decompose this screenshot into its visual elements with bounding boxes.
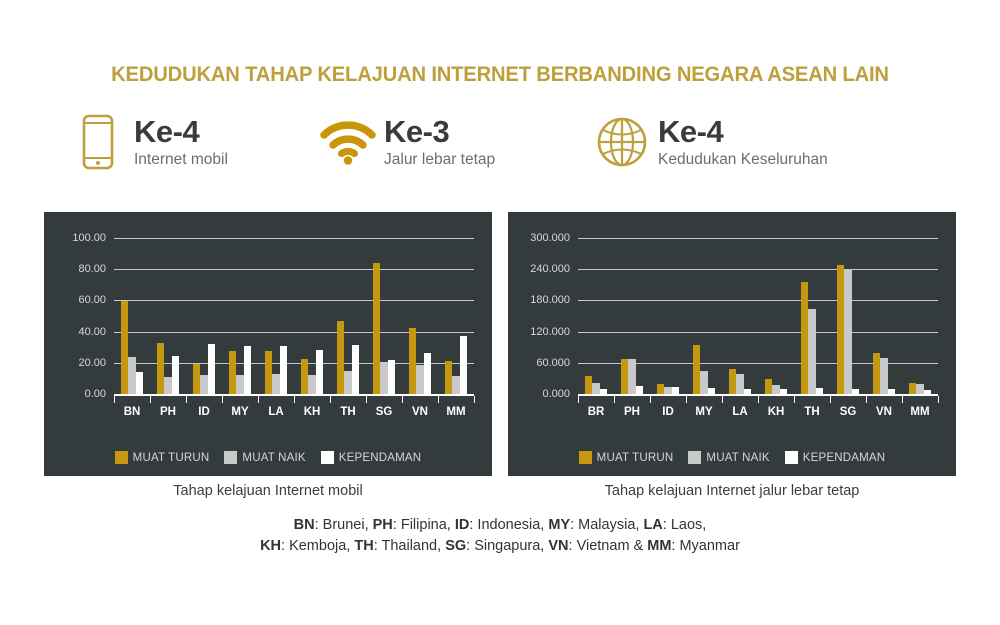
bar-vn-latency [888,389,895,394]
country-code: MM [647,538,671,554]
country-code: SG [445,538,466,554]
bar-my-latency [244,346,251,394]
x-axis-tick [830,396,831,403]
bar-mm-upload [916,384,923,394]
legend-label: KEPENDAMAN [803,452,886,464]
country-name: : Laos, [663,517,707,533]
bar-my-upload [700,371,707,394]
legend-swatch-dl [579,451,592,464]
chart-caption-mobile: Tahap kelajuan Internet mobil [44,483,492,499]
y-axis-tick-label: 100.00 [72,232,106,244]
x-axis-tick [294,396,295,403]
legend-label: MUAT TURUN [597,452,674,464]
bar-id-latency [208,344,215,394]
bar-my-upload [236,375,243,394]
country-code: KH [260,538,281,554]
x-axis-label-my: MY [231,406,248,418]
legend-item-dl: MUAT TURUN [579,451,674,464]
chart-caption-fixed-broadband: Tahap kelajuan Internet jalur lebar teta… [508,483,956,499]
bar-la-upload [272,374,279,394]
country-name: : Thailand, [374,538,445,554]
country-code: PH [373,517,393,533]
bar-kh-download [301,359,308,394]
bar-th-download [337,321,344,394]
bar-sg-download [373,263,380,394]
chart-legend-mobile: MUAT TURUNMUAT NAIKKEPENDAMAN [44,451,492,464]
gridline [114,300,474,301]
globe-icon [592,110,652,174]
y-axis-tick-label: 0.00 [85,388,106,400]
bar-ph-latency [172,356,179,394]
bar-th-latency [352,345,359,394]
country-name: : Filipina, [393,517,455,533]
bar-kh-download [765,379,772,394]
bar-sg-latency [852,389,859,394]
mobile-phone-icon [68,110,128,174]
country-name: : Myanmar [671,538,740,554]
country-code: MY [548,517,570,533]
x-axis-label-la: LA [268,406,283,418]
legend-item-lat: KEPENDAMAN [785,451,886,464]
gridline [114,363,474,364]
chart-plot-mobile: 0.0020.0040.0060.0080.00100.00BNPHIDMYLA… [44,212,492,476]
bar-id-upload [664,387,671,394]
bar-sg-latency [388,360,395,394]
country-code: ID [455,517,470,533]
legend-swatch-ul [224,451,237,464]
x-axis-tick [330,396,331,403]
x-axis-label-vn: VN [876,406,892,418]
country-code: TH [354,538,373,554]
x-axis-label-th: TH [340,406,355,418]
legend-label: MUAT NAIK [242,452,305,464]
x-axis-tick [794,396,795,403]
country-code-footnote: BN: Brunei, PH: Filipina, ID: Indonesia,… [0,515,1000,557]
y-axis-tick-label: 20.00 [78,357,106,369]
bar-my-download [693,345,700,394]
bar-kh-latency [780,389,787,394]
bar-vn-download [873,353,880,394]
bar-kh-latency [316,350,323,394]
chart-plot-fixed-broadband: 0.00060.000120.000180.000240.000300.000B… [508,212,956,476]
x-axis-tick [258,396,259,403]
x-axis-tick [222,396,223,403]
x-axis-tick [366,396,367,403]
x-axis-label-sg: SG [376,406,393,418]
country-name: : Indonesia, [469,517,548,533]
legend-item-lat: KEPENDAMAN [321,451,422,464]
bar-sg-download [837,265,844,394]
legend-swatch-dl [115,451,128,464]
x-axis-label-my: MY [695,406,712,418]
country-name: : Kemboja, [281,538,354,554]
bar-id-latency [672,387,679,394]
gridline [114,238,474,239]
y-axis-tick-label: 120.000 [530,326,570,338]
country-name: : Vietnam & [569,538,648,554]
x-axis-tick [474,396,475,403]
bar-vn-latency [424,353,431,394]
gridline [114,332,474,333]
x-axis-tick [150,396,151,403]
y-axis-tick-label: 300.000 [530,232,570,244]
x-axis-tick [438,396,439,403]
bar-my-download [229,351,236,394]
y-axis-tick-label: 240.000 [530,263,570,275]
legend-swatch-lat [785,451,798,464]
bar-la-download [729,369,736,394]
x-axis-tick [686,396,687,403]
bar-my-latency [708,388,715,394]
bar-bn-upload [128,357,135,394]
bar-id-upload [200,375,207,395]
infographic-root: KEDUDUKAN TAHAP KELAJUAN INTERNET BERBAN… [0,0,1000,625]
y-axis-tick-label: 80.00 [78,263,106,275]
bar-mm-download [445,361,452,394]
stat-label: Kedudukan Keseluruhan [658,151,828,168]
y-axis-tick-label: 0.000 [542,388,570,400]
bar-vn-download [409,328,416,394]
x-axis-tick [186,396,187,403]
x-axis-label-bn: BN [124,406,141,418]
bar-mm-download [909,383,916,394]
bar-ph-download [157,343,164,394]
legend-label: MUAT NAIK [706,452,769,464]
bar-mm-latency [460,336,467,395]
chart-legend-fixed-broadband: MUAT TURUNMUAT NAIKKEPENDAMAN [508,451,956,464]
bar-bn-latency [136,372,143,394]
country-name: : Malaysia, [570,517,643,533]
x-axis-label-kh: KH [768,406,785,418]
x-axis-label-ph: PH [624,406,640,418]
x-axis-tick [650,396,651,403]
gridline [578,332,938,333]
x-axis-label-br: BR [588,406,605,418]
bar-th-upload [808,309,815,394]
bar-th-download [801,282,808,394]
bar-mm-upload [452,376,459,394]
y-axis-tick-label: 40.00 [78,326,106,338]
bar-la-download [265,351,272,394]
legend-swatch-lat [321,451,334,464]
bar-la-upload [736,374,743,394]
legend-label: KEPENDAMAN [339,452,422,464]
stat-rank: Ke-4 [134,116,228,147]
stat-block-overall: Ke-4 Kedudukan Keseluruhan [592,110,828,174]
legend-swatch-ul [688,451,701,464]
bar-sg-upload [844,269,851,394]
bar-kh-upload [772,385,779,394]
stat-text-fixed-broadband: Ke-3 Jalur lebar tetap [384,116,495,168]
x-axis-label-vn: VN [412,406,428,418]
bar-kh-upload [308,375,315,395]
footnote-line-1: BN: Brunei, PH: Filipina, ID: Indonesia,… [0,515,1000,536]
bar-sg-upload [380,362,387,394]
country-code: LA [643,517,662,533]
legend-label: MUAT TURUN [133,452,210,464]
x-axis-tick [938,396,939,403]
x-axis-tick [758,396,759,403]
bar-br-upload [592,383,599,394]
wifi-icon [318,110,378,174]
bar-id-download [657,384,664,394]
bar-bn-download [121,301,128,394]
country-name: : Brunei, [315,517,373,533]
bar-la-latency [744,389,751,394]
x-axis-tick [722,396,723,403]
gridline [114,269,474,270]
legend-item-ul: MUAT NAIK [688,451,769,464]
gridline [578,300,938,301]
x-axis-label-th: TH [804,406,819,418]
bar-ph-download [621,359,628,394]
x-axis-label-id: ID [662,406,674,418]
bar-ph-latency [636,386,643,394]
stat-label: Jalur lebar tetap [384,151,495,168]
legend-item-dl: MUAT TURUN [115,451,210,464]
x-axis-label-mm: MM [446,406,465,418]
stat-block-fixed-broadband: Ke-3 Jalur lebar tetap [318,110,495,174]
x-axis-label-sg: SG [840,406,857,418]
stat-rank: Ke-3 [384,116,495,147]
bar-id-download [193,364,200,394]
y-axis-tick-label: 180.000 [530,294,570,306]
x-axis-label-ph: PH [160,406,176,418]
country-code: VN [548,538,568,554]
stat-label: Internet mobil [134,151,228,168]
x-axis-label-kh: KH [304,406,321,418]
bar-vn-upload [416,365,423,394]
stat-rank: Ke-4 [658,116,828,147]
x-axis-label-id: ID [198,406,210,418]
bar-mm-latency [924,390,931,394]
x-axis-label-mm: MM [910,406,929,418]
x-axis-tick [614,396,615,403]
x-axis-tick [578,396,579,403]
stat-text-overall: Ke-4 Kedudukan Keseluruhan [658,116,828,168]
x-axis-tick [114,396,115,403]
y-axis-tick-label: 60.000 [536,357,570,369]
gridline [578,238,938,239]
chart-panel-fixed-broadband: 0.00060.000120.000180.000240.000300.000B… [508,212,956,476]
x-axis-tick [866,396,867,403]
country-code: BN [294,517,315,533]
bar-la-latency [280,346,287,394]
stat-block-mobile: Ke-4 Internet mobil [68,110,228,174]
x-axis-label-la: LA [732,406,747,418]
bar-ph-upload [164,377,171,394]
footnote-line-2: KH: Kemboja, TH: Thailand, SG: Singapura… [0,536,1000,557]
bar-br-latency [600,389,607,394]
bar-ph-upload [628,359,635,394]
gridline [578,269,938,270]
legend-item-ul: MUAT NAIK [224,451,305,464]
bar-vn-upload [880,358,887,394]
country-name: : Singapura, [466,538,548,554]
chart-panel-mobile: 0.0020.0040.0060.0080.00100.00BNPHIDMYLA… [44,212,492,476]
y-axis-tick-label: 60.00 [78,294,106,306]
page-title: KEDUDUKAN TAHAP KELAJUAN INTERNET BERBAN… [30,62,970,87]
stat-text-mobile: Ke-4 Internet mobil [134,116,228,168]
bar-th-upload [344,371,351,394]
x-axis-tick [402,396,403,403]
stat-blocks: Ke-4 Internet mobil Ke-3 Jalur lebar tet… [60,106,950,194]
bar-th-latency [816,388,823,394]
x-axis-tick [902,396,903,403]
bar-br-download [585,376,592,394]
